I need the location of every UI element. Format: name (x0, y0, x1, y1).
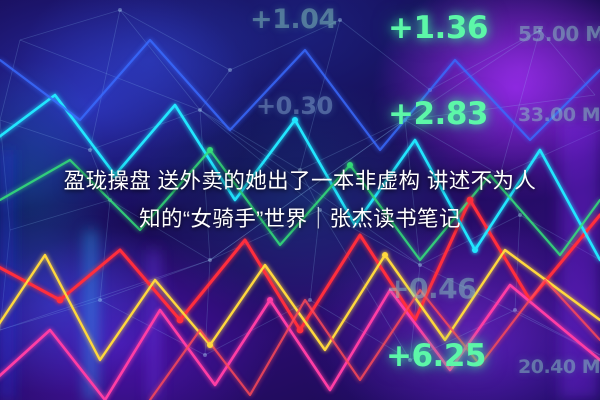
ticker-volume: 33.00 M (518, 104, 600, 126)
ticker-value: +1.04 (250, 4, 337, 35)
headline-line-1: 盈珑操盘 送外卖的她出了一本非虚构 讲述不为人 (0, 162, 600, 200)
ticker-volume: 55.00 M (518, 22, 600, 46)
headline-overlay: 盈珑操盘 送外卖的她出了一本非虚构 讲述不为人 知的“女骑手”世界｜张杰读书笔记 (0, 162, 600, 238)
ticker-value: +1.36 (388, 10, 488, 46)
ticker-value: +2.83 (388, 96, 488, 132)
ticker-value: +0.30 (256, 92, 333, 120)
ticker-volume: 20.40 M (518, 356, 600, 378)
ticker-value: +0.46 (386, 272, 476, 305)
image-canvas: +1.04 +1.36 55.00 M +0.30 +2.83 33.00 M … (0, 0, 600, 400)
ticker-value: +6.25 (386, 338, 486, 374)
headline-line-2: 知的“女骑手”世界｜张杰读书笔记 (0, 200, 600, 238)
